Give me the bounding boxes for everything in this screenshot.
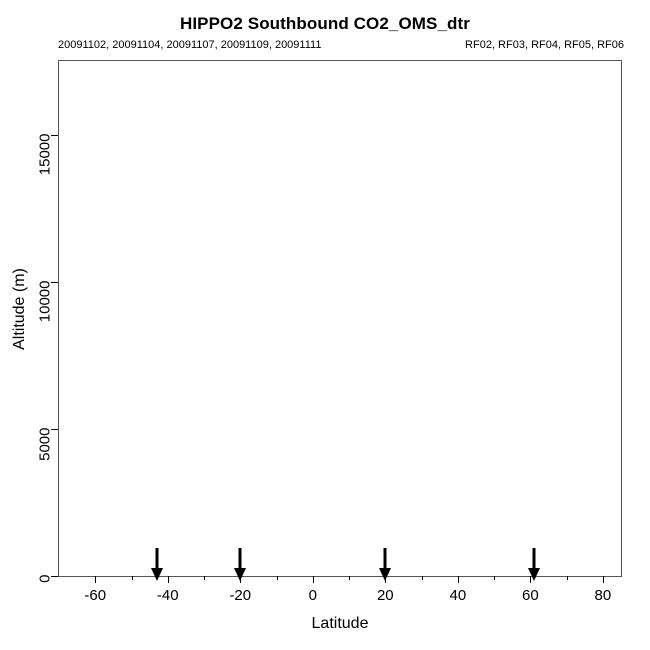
x-axis-tick bbox=[603, 576, 604, 583]
y-axis-tick bbox=[51, 135, 58, 136]
y-axis-tick bbox=[51, 282, 58, 283]
x-axis-tick bbox=[168, 576, 169, 583]
y-axis-tick-label: 10000 bbox=[37, 280, 54, 326]
x-axis-tick bbox=[95, 576, 96, 583]
x-axis-tick-label: -60 bbox=[84, 587, 106, 604]
x-axis-tick-label: -20 bbox=[229, 587, 251, 604]
page-title: HIPPO2 Southbound CO2_OMS_dtr bbox=[0, 14, 650, 34]
y-axis-tick-label: 0 bbox=[37, 575, 54, 621]
y-axis-tick-label: 15000 bbox=[37, 133, 54, 179]
x-axis-tick-label: 80 bbox=[595, 587, 612, 604]
x-axis-tick-label: -40 bbox=[157, 587, 179, 604]
x-axis-tick bbox=[385, 576, 386, 583]
y-axis-tick bbox=[51, 429, 58, 430]
subtitle-flights: RF02, RF03, RF04, RF05, RF06 bbox=[465, 39, 624, 51]
x-axis-tick-label: 60 bbox=[522, 587, 539, 604]
x-axis-tick-label: 40 bbox=[449, 587, 466, 604]
x-axis-tick bbox=[313, 576, 314, 583]
x-axis-tick bbox=[530, 576, 531, 583]
x-axis-tick-label: 20 bbox=[377, 587, 394, 604]
x-axis-tick-label: 0 bbox=[309, 587, 317, 604]
x-axis-title: Latitude bbox=[58, 615, 622, 633]
y-axis-tick bbox=[51, 576, 58, 577]
plot-frame bbox=[58, 60, 622, 577]
subtitle-dates: 20091102, 20091104, 20091107, 20091109, … bbox=[58, 39, 321, 51]
y-axis-title: Altitude (m) bbox=[11, 229, 29, 389]
y-axis-tick-label: 5000 bbox=[37, 427, 54, 473]
x-axis-tick bbox=[458, 576, 459, 583]
plot-root: HIPPO2 Southbound CO2_OMS_dtr 20091102, … bbox=[0, 0, 650, 650]
x-axis-tick bbox=[240, 576, 241, 583]
